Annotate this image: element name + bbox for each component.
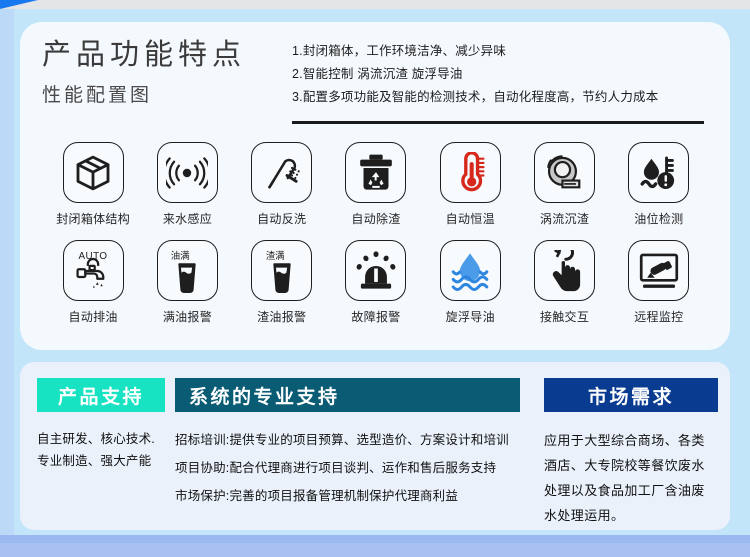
feature-label: 接触交互 — [540, 308, 589, 325]
feature-label: 自动排油 — [69, 308, 118, 325]
feature-item[interactable]: AUTO 自动排油 — [46, 240, 140, 325]
system-support-text: 招标培训:提供专业的项目预算、选型造价、方案设计和培训 项目协助:配合代理商进行… — [175, 426, 522, 510]
poster-page: 产品功能特点 性能配置图 1.封闭箱体，工作环境洁净、减少异味 2.智能控制 涡… — [0, 0, 750, 557]
header-underline — [292, 121, 704, 124]
feature-item[interactable]: 来水感应 — [140, 142, 234, 227]
feature-grid: 封闭箱体结构 — [46, 142, 706, 325]
feature-item[interactable]: 油位检测 — [612, 142, 706, 227]
feature-icon-card[interactable] — [440, 142, 501, 203]
page-subtitle: 性能配置图 — [42, 80, 282, 107]
feature-icon-card[interactable] — [157, 142, 218, 203]
feature-label: 自动恒温 — [446, 210, 495, 227]
product-support-text: 自主研发、核心技术. 专业制造、强大产能 — [37, 428, 169, 472]
svg-text:AUTO: AUTO — [79, 251, 108, 262]
feature-item[interactable]: 自动恒温 — [423, 142, 517, 227]
support-columns: 产品支持 自主研发、核心技术. 专业制造、强大产能 系统的专业支持 招标培训:提… — [20, 362, 730, 530]
top-gray-strip — [0, 0, 750, 9]
oil-full-cup-icon: 油满 — [163, 247, 211, 295]
feature-icon-card[interactable] — [628, 240, 689, 301]
feature-label: 故障报警 — [351, 308, 400, 325]
vortex-blower-icon — [544, 153, 586, 193]
backwash-shower-icon — [262, 153, 302, 193]
remote-monitor-icon — [637, 251, 681, 291]
product-support-bar: 产品支持 — [37, 378, 165, 412]
feature-icon-card[interactable] — [534, 142, 595, 203]
feature-item[interactable]: 接触交互 — [517, 240, 611, 325]
market-demand-bar: 市场需求 — [544, 378, 718, 412]
floating-oil-drop-icon — [449, 250, 491, 292]
auto-faucet-icon: AUTO — [69, 247, 117, 295]
support-column-product: 产品支持 自主研发、核心技术. 专业制造、强大产能 — [20, 362, 175, 530]
header-block: 产品功能特点 性能配置图 — [42, 40, 282, 107]
support-column-system: 系统的专业支持 招标培训:提供专业的项目预算、选型造价、方案设计和培训 项目协助… — [175, 362, 530, 530]
feature-item[interactable]: 自动除渣 — [329, 142, 423, 227]
product-support-line: 专业制造、强大产能 — [37, 450, 169, 472]
header-points-list: 1.封闭箱体，工作环境洁净、减少异味 2.智能控制 涡流沉渣 旋浮导油 3.配置… — [292, 40, 704, 109]
badge-text: 油满 — [171, 250, 190, 261]
bottom-blue-band-inner — [0, 543, 750, 557]
thermometer-icon — [451, 152, 489, 194]
feature-item[interactable]: 封闭箱体结构 — [46, 142, 140, 227]
feature-label: 来水感应 — [163, 210, 212, 227]
water-sensor-icon — [166, 153, 208, 193]
header-point-3: 3.配置多项功能及智能的检测技术，自动化程度高，节约人力成本 — [292, 86, 704, 109]
corner-accent-wedge — [0, 0, 38, 9]
system-support-bar: 系统的专业支持 — [175, 378, 520, 412]
feature-label: 自动除渣 — [351, 210, 400, 227]
market-demand-line: 水处理运用。 — [544, 503, 718, 528]
feature-label: 满油报警 — [163, 308, 212, 325]
feature-icon-card[interactable] — [628, 142, 689, 203]
left-blue-band — [0, 9, 14, 557]
feature-label: 油位检测 — [634, 210, 683, 227]
product-support-line: 自主研发、核心技术. — [37, 428, 169, 450]
market-demand-line: 酒店、大专院校等餐饮废水 — [544, 453, 718, 478]
feature-label: 涡流沉渣 — [540, 210, 589, 227]
feature-icon-card[interactable]: 油满 — [157, 240, 218, 301]
feature-label: 远程监控 — [634, 308, 683, 325]
feature-item[interactable]: 油满 满油报警 — [140, 240, 234, 325]
alarm-siren-icon — [355, 250, 397, 292]
page-title: 产品功能特点 — [42, 40, 282, 72]
oil-level-alert-icon — [638, 153, 680, 193]
feature-icon-card[interactable] — [440, 240, 501, 301]
feature-item[interactable]: 旋浮导油 — [423, 240, 517, 325]
feature-item[interactable]: 远程监控 — [612, 240, 706, 325]
feature-icon-card[interactable] — [345, 240, 406, 301]
sludge-full-cup-icon: 渣满 — [258, 247, 306, 295]
closed-box-icon — [73, 153, 113, 193]
feature-item[interactable]: 渣满 渣油报警 — [235, 240, 329, 325]
badge-text: 渣满 — [265, 250, 284, 261]
system-support-line: 市场保护:完善的项目报备管理机制保护代理商利益 — [175, 482, 522, 510]
feature-item[interactable]: 自动反洗 — [235, 142, 329, 227]
features-panel: 产品功能特点 性能配置图 1.封闭箱体，工作环境洁净、减少异味 2.智能控制 涡… — [20, 22, 730, 350]
feature-label: 自动反洗 — [257, 210, 306, 227]
market-demand-line: 处理以及食品加工厂含油废 — [544, 478, 718, 503]
touch-hand-icon — [545, 250, 585, 292]
feature-icon-card[interactable] — [251, 142, 312, 203]
feature-label: 渣油报警 — [257, 308, 306, 325]
system-support-line: 项目协助:配合代理商进行项目谈判、运作和售后服务支持 — [175, 454, 522, 482]
feature-icon-card[interactable] — [63, 142, 124, 203]
feature-icon-card[interactable] — [534, 240, 595, 301]
support-column-market: 市场需求 应用于大型综合商场、各类 酒店、大专院校等餐饮废水 处理以及食品加工厂… — [530, 362, 730, 530]
feature-label: 封闭箱体结构 — [56, 210, 130, 227]
feature-item[interactable]: 涡流沉渣 — [517, 142, 611, 227]
feature-icon-card[interactable] — [345, 142, 406, 203]
system-support-line: 招标培训:提供专业的项目预算、选型造价、方案设计和培训 — [175, 426, 522, 454]
feature-icon-card[interactable]: AUTO — [63, 240, 124, 301]
market-demand-line: 应用于大型综合商场、各类 — [544, 428, 718, 453]
market-demand-text: 应用于大型综合商场、各类 酒店、大专院校等餐饮废水 处理以及食品加工厂含油废 水… — [544, 428, 718, 528]
feature-label: 旋浮导油 — [446, 308, 495, 325]
feature-item[interactable]: 故障报警 — [329, 240, 423, 325]
header-point-1: 1.封闭箱体，工作环境洁净、减少异味 — [292, 40, 704, 63]
header-point-2: 2.智能控制 涡流沉渣 旋浮导油 — [292, 63, 704, 86]
feature-icon-card[interactable]: 渣满 — [251, 240, 312, 301]
trash-recycle-icon — [357, 153, 395, 193]
